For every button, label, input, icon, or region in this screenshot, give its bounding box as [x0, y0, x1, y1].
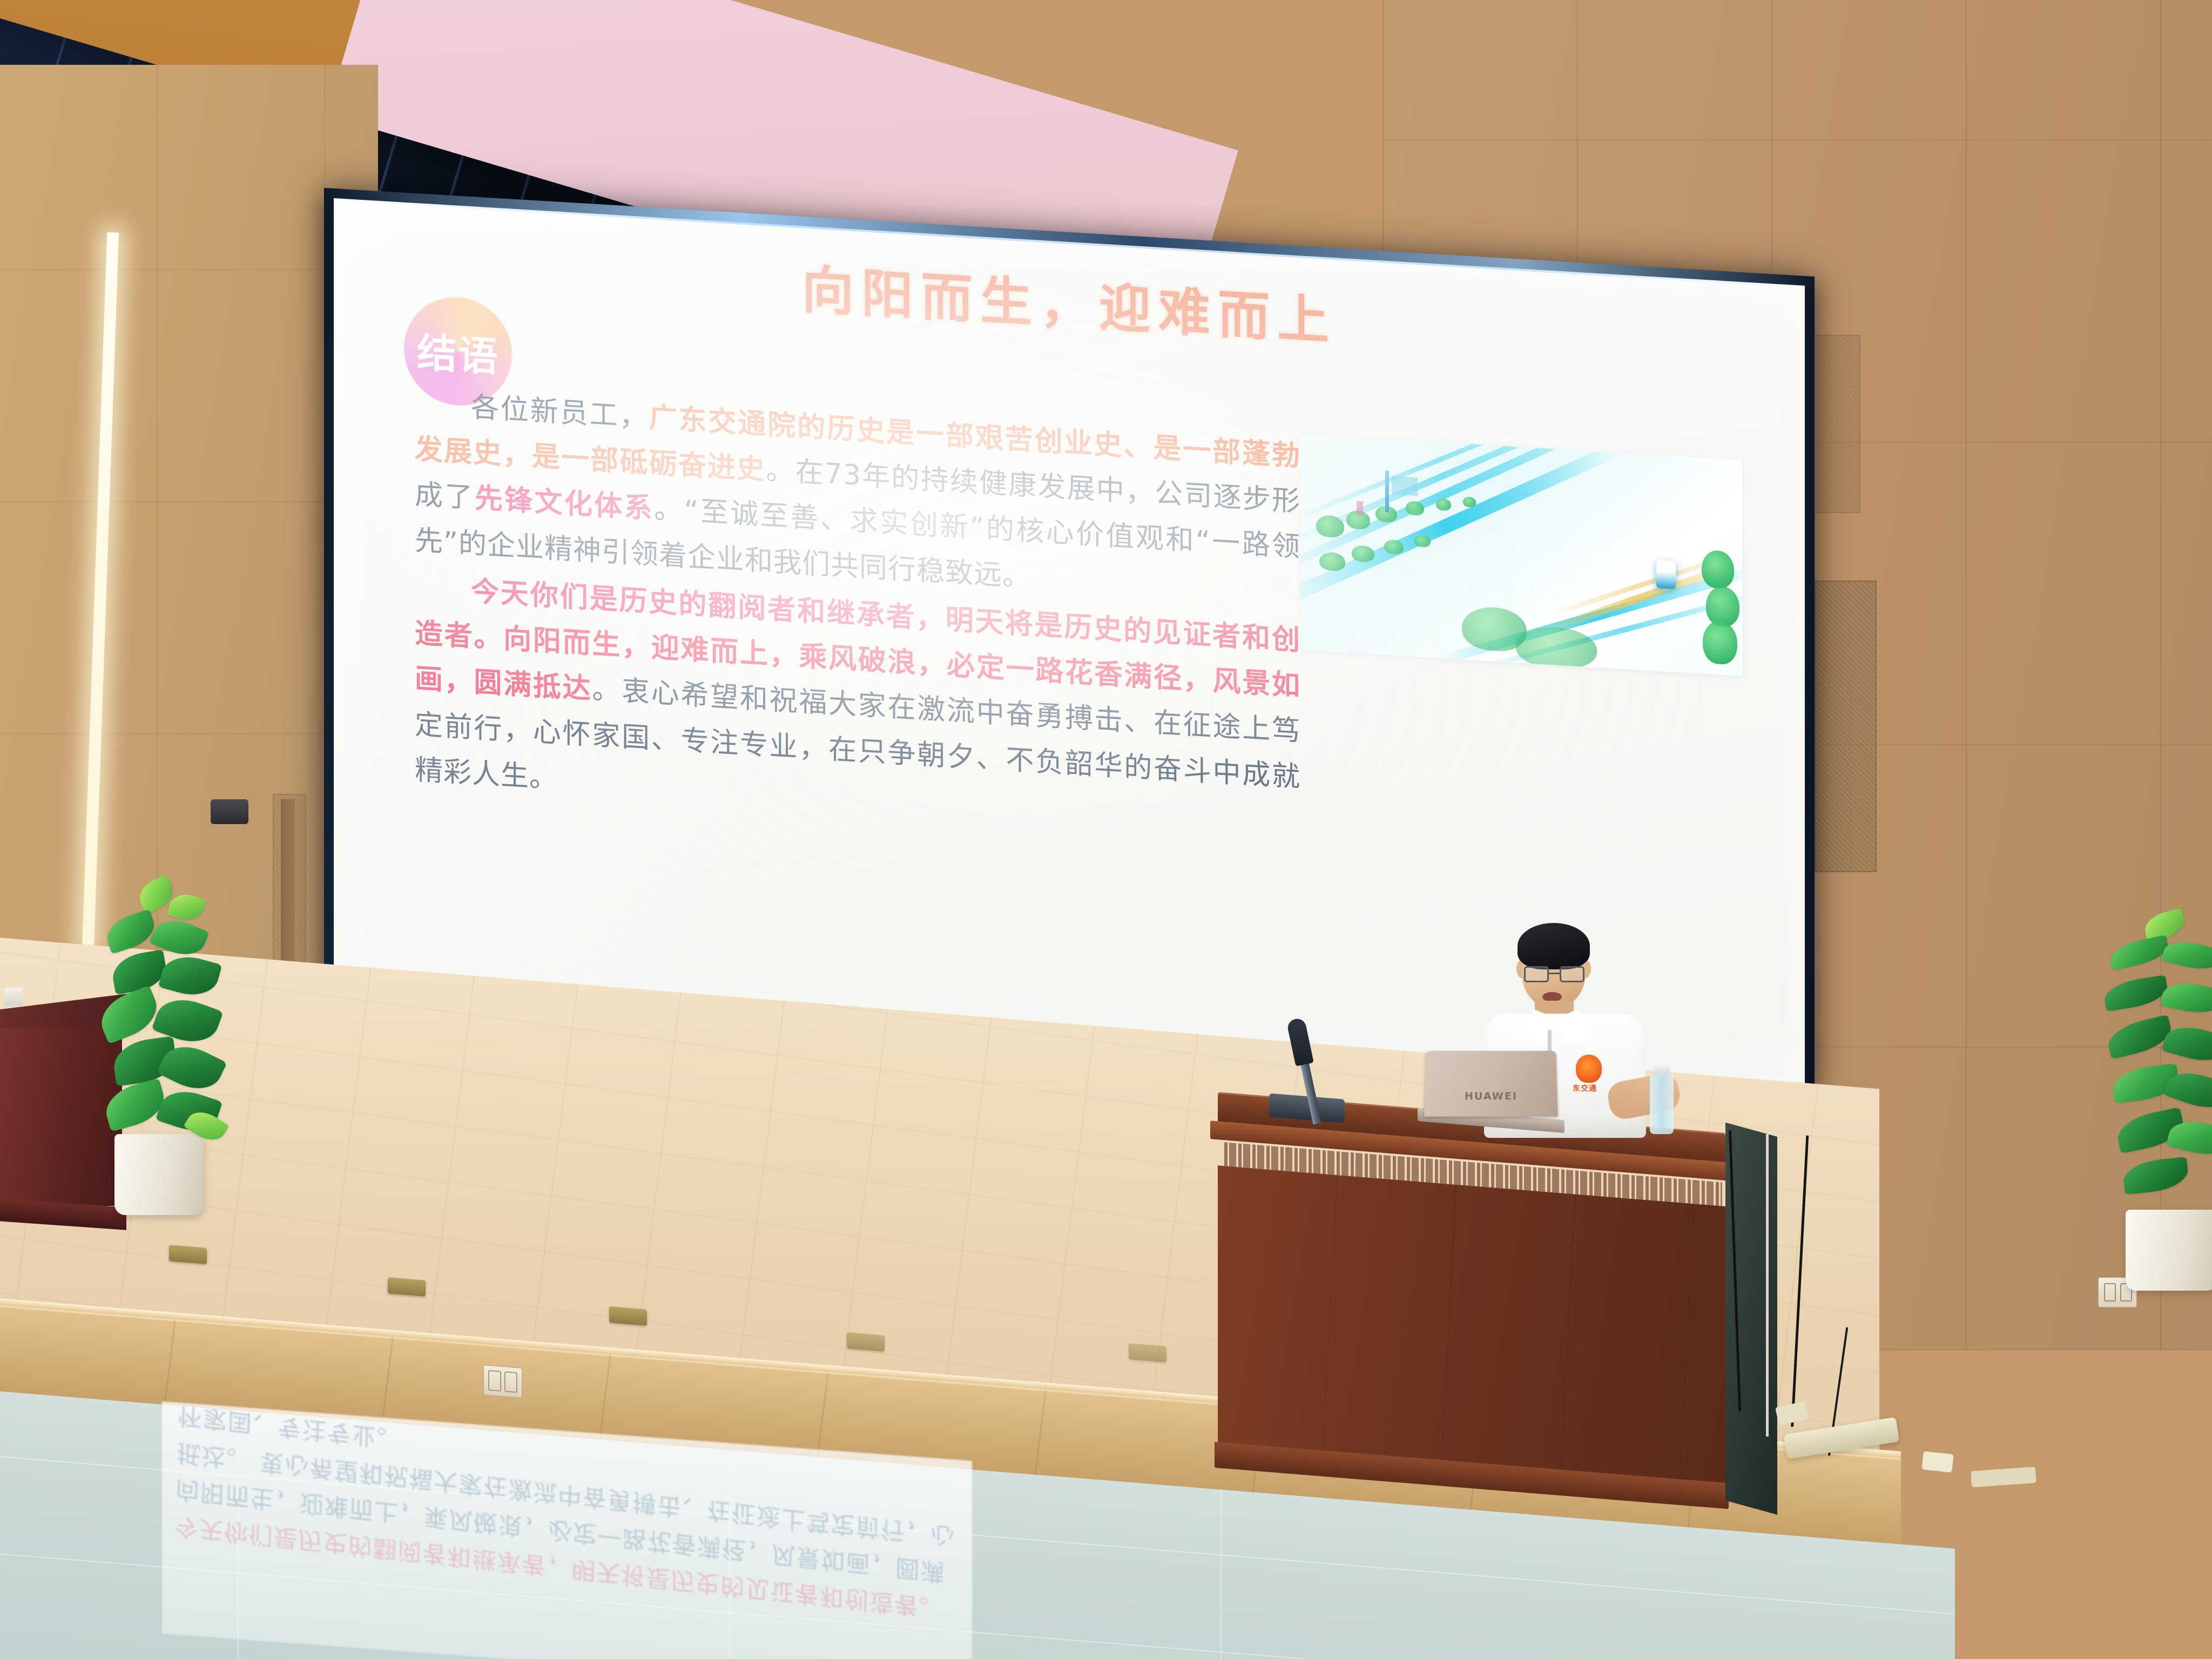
floor-socket-4[interactable] — [847, 1332, 885, 1352]
expressway-photo — [1300, 434, 1743, 676]
floor-socket-5[interactable] — [1129, 1343, 1166, 1363]
company-logo-caption: 东交通 — [1573, 1083, 1597, 1094]
run-highlight-pink: 先锋文化体系 — [475, 482, 654, 525]
run-normal: 各位新员工， — [471, 391, 649, 434]
slide-body: 各位新员工，广东交通院的历史是一部艰苦创业史、是一部蓬勃发展史，是一部砥砺奋进史… — [415, 381, 1300, 848]
laptop-lid: HUAWEI — [1424, 1051, 1557, 1117]
auditorium-scene: 向阳而生，迎难而上 结语 各位新员工，广东交通院的历史是一部艰苦创业史、是一部蓬… — [0, 0, 2212, 1659]
floor-socket-1[interactable] — [169, 1245, 207, 1264]
presenter-hair — [1518, 923, 1590, 969]
section-badge-label: 结语 — [417, 320, 499, 383]
slide-title: 向阳而生，迎难而上 — [802, 248, 1337, 355]
floor-socket-3[interactable] — [609, 1306, 647, 1326]
water-bottle[interactable] — [1650, 1075, 1674, 1134]
laptop[interactable]: HUAWEI — [1418, 1050, 1563, 1123]
glasses-icon — [1524, 966, 1584, 982]
plug-block-2 — [1921, 1451, 1953, 1473]
lectern-cup[interactable] — [4, 988, 23, 1006]
plant-pot-right — [2126, 1210, 2212, 1291]
plant-pot-left — [114, 1134, 204, 1215]
stage-front-outlet[interactable] — [483, 1365, 522, 1398]
acoustic-panel-right-2 — [1806, 335, 1860, 513]
floor-socket-2[interactable] — [388, 1277, 426, 1297]
plug-block-3 — [1971, 1467, 2036, 1487]
company-flame-logo-icon — [1576, 1055, 1602, 1083]
potted-plant-right — [2074, 907, 2212, 1285]
door-edge — [281, 799, 295, 977]
speaker-podium[interactable] — [1218, 1092, 1725, 1538]
potted-plant-left — [81, 869, 259, 1226]
laptop-brand-label: HUAWEI — [1465, 1090, 1518, 1102]
door-handle[interactable] — [211, 799, 248, 824]
acoustic-panel-right-1 — [1815, 581, 1877, 872]
